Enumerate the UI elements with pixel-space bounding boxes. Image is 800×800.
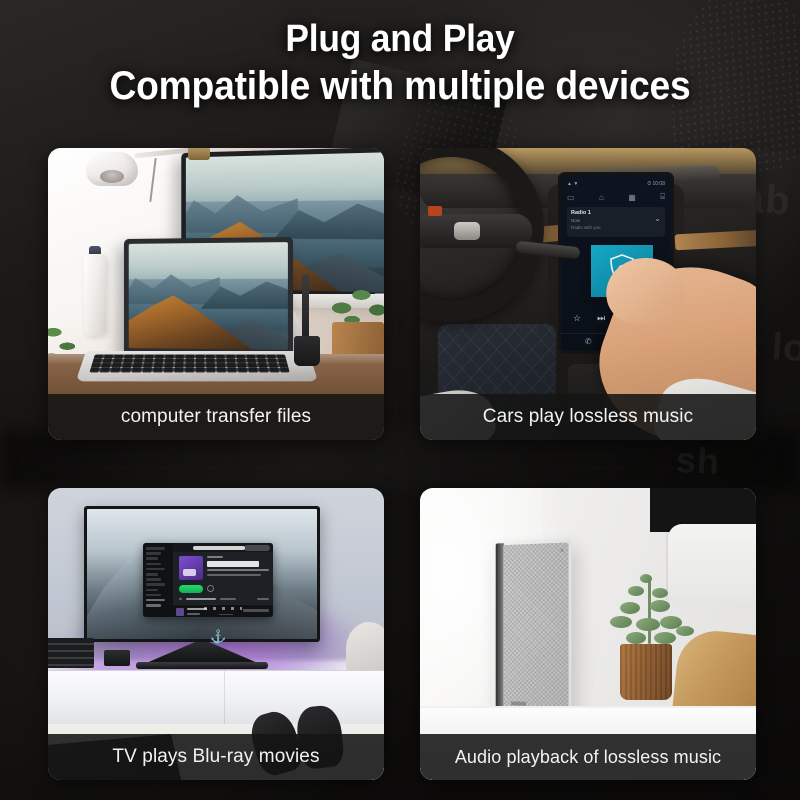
transport-controls[interactable] — [204, 607, 242, 610]
music-player-window[interactable] — [143, 543, 273, 617]
lamp-joint — [188, 148, 210, 160]
page-title-line-2: Compatible with multiple devices — [28, 63, 772, 110]
touchscreen-status-bar: ▲ ▼ ⏱ 10:08 — [567, 179, 665, 188]
card-caption-tv: TV plays Blu-ray movies — [48, 734, 384, 780]
card-caption-audio: Audio playback of lossless music — [420, 734, 756, 780]
tv-foot — [136, 662, 268, 669]
promo-page: ab s lo sh Plug and Play Compatible with… — [0, 0, 800, 800]
sidebar-row — [146, 568, 165, 571]
steering-wheel-button — [454, 222, 480, 240]
now-playing-row[interactable]: Radio 1 Now Radio with you ⌄ — [567, 207, 665, 237]
sidebar-row — [146, 583, 165, 586]
playlist-cover-art — [179, 556, 203, 580]
page-title: Plug and Play Compatible with multiple d… — [28, 16, 772, 110]
pen — [302, 274, 309, 340]
status-right-icon: ⏱ 10:08 — [647, 181, 665, 187]
sidebar-row — [146, 557, 158, 560]
chevron-down-icon[interactable]: ⌄ — [654, 215, 661, 223]
feature-card-audio[interactable]: Audio playback of lossless music — [420, 488, 756, 780]
sidebar-row-active — [146, 604, 161, 607]
television — [84, 506, 320, 642]
sidebar-row — [146, 547, 165, 550]
map-icon[interactable]: ⌸ — [660, 192, 665, 202]
card-caption-computer: computer transfer files — [48, 394, 384, 440]
sidebar-row — [146, 563, 161, 566]
now-playing-thumbnail — [176, 608, 184, 616]
plant-leaves-right — [330, 278, 384, 328]
tv-screen — [87, 509, 317, 639]
progress-bar[interactable] — [219, 614, 233, 616]
player-sidebar[interactable] — [143, 543, 173, 617]
apps-grid-icon[interactable]: ▦ — [628, 193, 636, 202]
plant-stem — [648, 578, 651, 644]
playlist-meta — [207, 574, 261, 576]
play-button[interactable] — [179, 585, 203, 593]
feature-card-tv[interactable]: ⚓ TV plays Blu-ray movies — [48, 488, 384, 780]
now-playing-sub: Now — [571, 218, 580, 223]
sidebar-row — [146, 594, 161, 597]
home-icon[interactable]: ⌂ — [599, 193, 604, 202]
page-title-line-1: Plug and Play — [285, 18, 514, 60]
playlist-description — [207, 569, 269, 571]
user-menu-button[interactable] — [244, 545, 270, 551]
tv-brand-logo: ⚓ — [210, 630, 222, 644]
search-input[interactable] — [193, 546, 245, 551]
now-playing-bar[interactable] — [173, 604, 273, 617]
chair — [346, 622, 384, 676]
speaker-grille-mesh — [503, 542, 568, 717]
lamp-bulb — [100, 170, 124, 183]
stacked-books — [48, 638, 94, 668]
now-playing-artist — [187, 613, 200, 615]
sidebar-row — [146, 578, 161, 581]
sidebar-row — [146, 552, 161, 555]
now-playing-sub2: Radio with you — [571, 225, 601, 230]
laptop-base — [76, 351, 319, 381]
feature-card-car[interactable]: ▲ ▼ ⏱ 10:08 ▭ ⌂ ▦ ⌸ Radio 1 Now Radio wi… — [420, 148, 756, 440]
track-row[interactable] — [179, 597, 269, 601]
laptop-screen — [129, 242, 288, 350]
wooden-plant-pot — [620, 644, 672, 700]
volume-slider[interactable] — [243, 609, 269, 612]
water-bottle — [84, 254, 106, 336]
next-icon[interactable]: ⏭ — [597, 313, 605, 324]
now-playing-title: Radio 1 — [571, 210, 591, 216]
sidebar-row — [146, 589, 158, 592]
star-icon[interactable]: ☆ — [573, 313, 581, 324]
status-left-icon: ▲ ▼ — [567, 181, 578, 187]
more-options-icon[interactable] — [207, 585, 214, 592]
pen-cup — [294, 336, 320, 366]
card-caption-car: Cars play lossless music — [420, 394, 756, 440]
laptop-keyboard — [89, 355, 289, 373]
bookshelf-speaker — [492, 538, 572, 724]
sidebar-row — [146, 573, 158, 576]
phone-icon[interactable]: ✆ — [585, 337, 592, 346]
sidebar-row-active — [146, 599, 165, 602]
media-icon[interactable]: ▭ — [567, 193, 575, 202]
touchscreen-nav-icons[interactable]: ▭ ⌂ ▦ ⌸ — [567, 191, 665, 203]
feature-card-computer[interactable]: computer transfer files — [48, 148, 384, 440]
media-box — [104, 650, 130, 666]
feature-card-grid: computer transfer files ▲ ▼ ⏱ 10:08 — [48, 148, 756, 780]
steering-wheel-button-2 — [428, 206, 442, 216]
player-main — [173, 543, 273, 617]
laptop — [124, 237, 293, 355]
playlist-title — [207, 561, 259, 567]
playlist-kicker — [207, 556, 223, 558]
succulent-plant — [598, 574, 702, 652]
